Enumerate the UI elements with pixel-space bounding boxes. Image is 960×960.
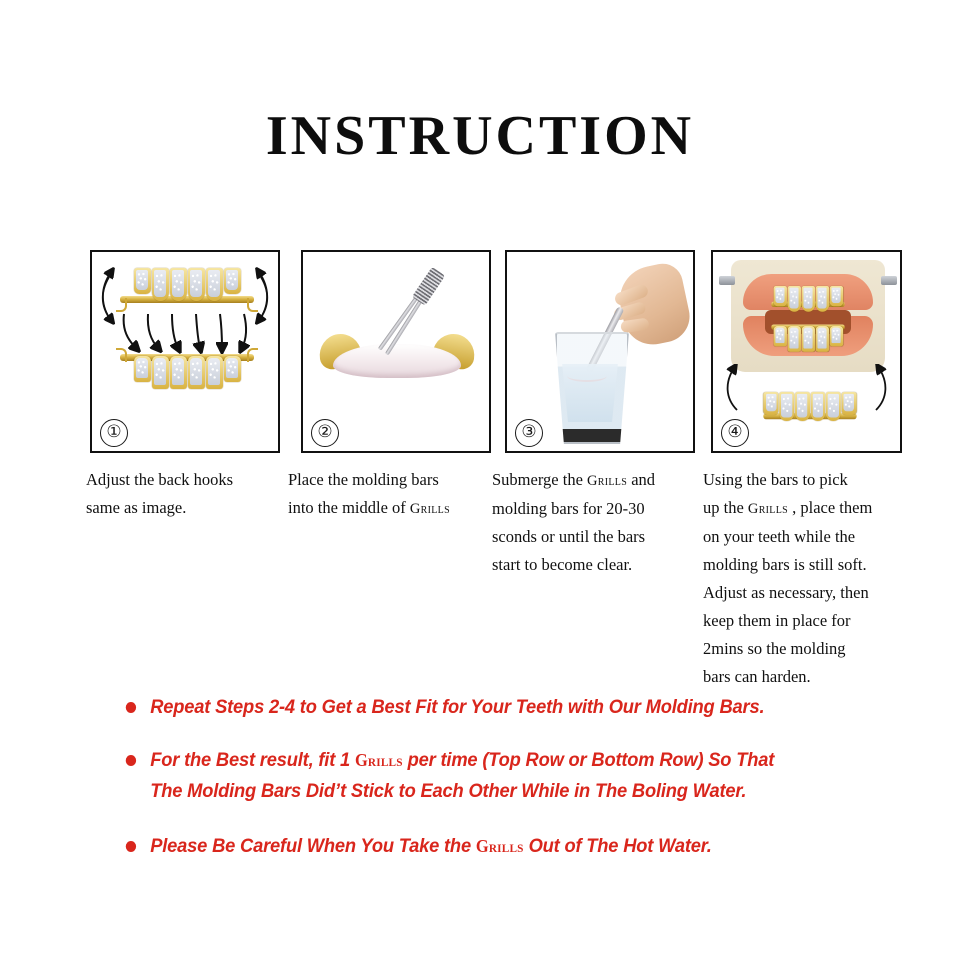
downward-fan-arrows-icon (118, 312, 258, 358)
note-2-line-2: The Molding Bars Did’t Stick to Each Oth… (150, 776, 874, 807)
submerged-molding-bar (567, 370, 607, 382)
step-4-caption-line-2: up the Grills , place them (703, 494, 925, 523)
step-1-caption-line-2: same as image. (86, 494, 286, 522)
hinge-right (881, 276, 897, 285)
step-1-caption: Adjust the back hooks same as image. (86, 466, 286, 522)
step-2-caption-line-1: Place the molding bars (288, 466, 488, 494)
fitted-lower-grillz (771, 326, 844, 346)
lower-grillz-graphic (120, 356, 254, 396)
step-2-caption: Place the molding bars into the middle o… (288, 466, 488, 523)
step-4-number-badge: ④ (721, 419, 749, 447)
step-4-caption-line-5: Adjust as necessary, then (703, 579, 925, 607)
upper-grillz-graphic (120, 268, 254, 308)
step-4-caption-line-3: on your teeth while the (703, 523, 925, 551)
white-molding-bar (333, 344, 461, 378)
steps-image-row: ① ② (90, 250, 902, 455)
bullet-dot-icon (126, 841, 136, 852)
bullet-dot-icon (126, 755, 136, 766)
step-4-caption-line-2-pre: up the (703, 498, 748, 517)
dental-model-graphic (731, 260, 885, 372)
step-2-image-panel: ② (301, 250, 491, 453)
step-4-caption-line-7: 2mins so the molding (703, 635, 925, 663)
fitted-upper-grillz (771, 286, 844, 306)
brand-word-grills: Grills (748, 501, 788, 517)
step-3-caption-line-1-pre: Submerge the (492, 470, 587, 489)
note-2-line-1-post: per time (Top Row or Bottom Row) So That (403, 749, 774, 771)
step-1-number-badge: ① (100, 419, 128, 447)
step-2-number-badge: ② (311, 419, 339, 447)
hinge-left (719, 276, 735, 285)
red-notes-list: Repeat Steps 2-4 to Get a Best Fit for Y… (122, 692, 922, 884)
step-3-number-badge: ③ (515, 419, 543, 447)
step-3-caption-line-2: molding bars for 20-30 (492, 495, 697, 523)
step-3-caption-line-1-post: and (627, 470, 655, 489)
note-3-line-1-pre: Please Be Careful When You Take the (150, 835, 476, 857)
page-title: INSTRUCTION (0, 108, 960, 164)
step-3-image-panel: ③ (505, 250, 695, 453)
instruction-infographic: INSTRUCTION (0, 0, 960, 960)
note-item-2: For the Best result, fit 1 Grills per ti… (122, 745, 874, 807)
note-2-line-1: For the Best result, fit 1 Grills per ti… (150, 749, 774, 771)
note-item-3: Please Be Careful When You Take the Gril… (122, 831, 874, 862)
left-place-arrow-icon (721, 364, 745, 414)
loose-grillz-graphic (763, 392, 856, 422)
step-3-caption: Submerge the Grills and molding bars for… (492, 466, 697, 579)
step-4-caption-line-6: keep them in place for (703, 607, 925, 635)
step-3-caption-line-3: sconds or until the bars (492, 523, 697, 551)
step-3-caption-line-4: start to become clear. (492, 551, 697, 579)
brand-word-grills: Grills (587, 473, 627, 489)
step-4-caption-line-1: Using the bars to pick (703, 466, 925, 494)
brand-word-grills: Grills (410, 501, 450, 517)
step-4-caption: Using the bars to pick up the Grills , p… (703, 466, 925, 691)
step-3-caption-line-1: Submerge the Grills and (492, 466, 697, 495)
step-4-caption-line-8: bars can harden. (703, 663, 925, 691)
brand-word-grills: Grills (355, 750, 403, 770)
right-place-arrow-icon (868, 364, 892, 414)
step-4-image-panel: ④ (711, 250, 902, 453)
note-3-line-1-post: Out of The Hot Water. (524, 835, 712, 857)
bullet-dot-icon (126, 702, 136, 713)
note-item-1: Repeat Steps 2-4 to Get a Best Fit for Y… (122, 692, 874, 723)
step-2-caption-line-2-text: into the middle of (288, 498, 410, 517)
step-4-caption-line-2-post: , place them (788, 498, 872, 517)
step-1-image-panel: ① (90, 250, 280, 453)
note-2-line-1-pre: For the Best result, fit 1 (150, 749, 355, 771)
brand-word-grills: Grills (476, 836, 524, 856)
step-4-caption-line-4: molding bars is still soft. (703, 551, 925, 579)
step-2-caption-line-2: into the middle of Grills (288, 494, 488, 523)
step-1-caption-line-1: Adjust the back hooks (86, 466, 286, 494)
note-1-text: Repeat Steps 2-4 to Get a Best Fit for Y… (150, 696, 764, 718)
